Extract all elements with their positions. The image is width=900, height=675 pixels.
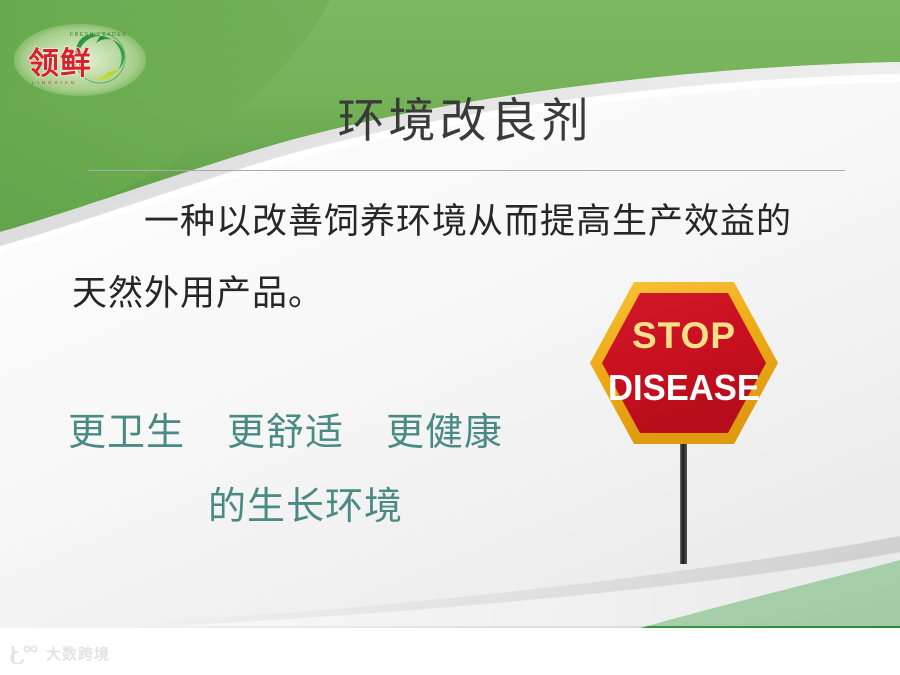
watermark-logo-icon xyxy=(10,644,40,664)
benefits-block: 更卫生 更舒适 更健康 的生长环境 xyxy=(68,396,588,544)
stop-sign-icon: STOP DISEASE xyxy=(584,276,784,566)
slide-canvas: FRESH LEADER 领鲜 LINGXIAN 环境改良剂 一种以改善饲养环境… xyxy=(0,0,900,628)
brand-logo: FRESH LEADER 领鲜 LINGXIAN xyxy=(14,24,150,96)
logo-brand-cn: 领鲜 xyxy=(28,46,92,82)
page-title: 环境改良剂 xyxy=(0,92,900,152)
watermark: 大数跨境 xyxy=(10,643,110,664)
brand-logo-icon: FRESH LEADER 领鲜 LINGXIAN xyxy=(14,24,150,96)
title-divider xyxy=(88,170,845,171)
sign-text-stop: STOP xyxy=(632,315,736,356)
watermark-text: 大数跨境 xyxy=(46,643,110,664)
sign-text-disease: DISEASE xyxy=(608,367,760,408)
benefits-line-2: 的生长环境 xyxy=(68,470,588,544)
slide-root: FRESH LEADER 领鲜 LINGXIAN 环境改良剂 一种以改善饲养环境… xyxy=(0,0,900,675)
sign-pole xyxy=(680,436,687,564)
logo-tagline-bottom: LINGXIAN xyxy=(32,80,77,85)
stop-disease-sign: STOP DISEASE xyxy=(584,276,784,566)
logo-tagline-top: FRESH LEADER xyxy=(70,32,128,38)
benefits-line-1: 更卫生 更舒适 更健康 xyxy=(68,396,588,470)
